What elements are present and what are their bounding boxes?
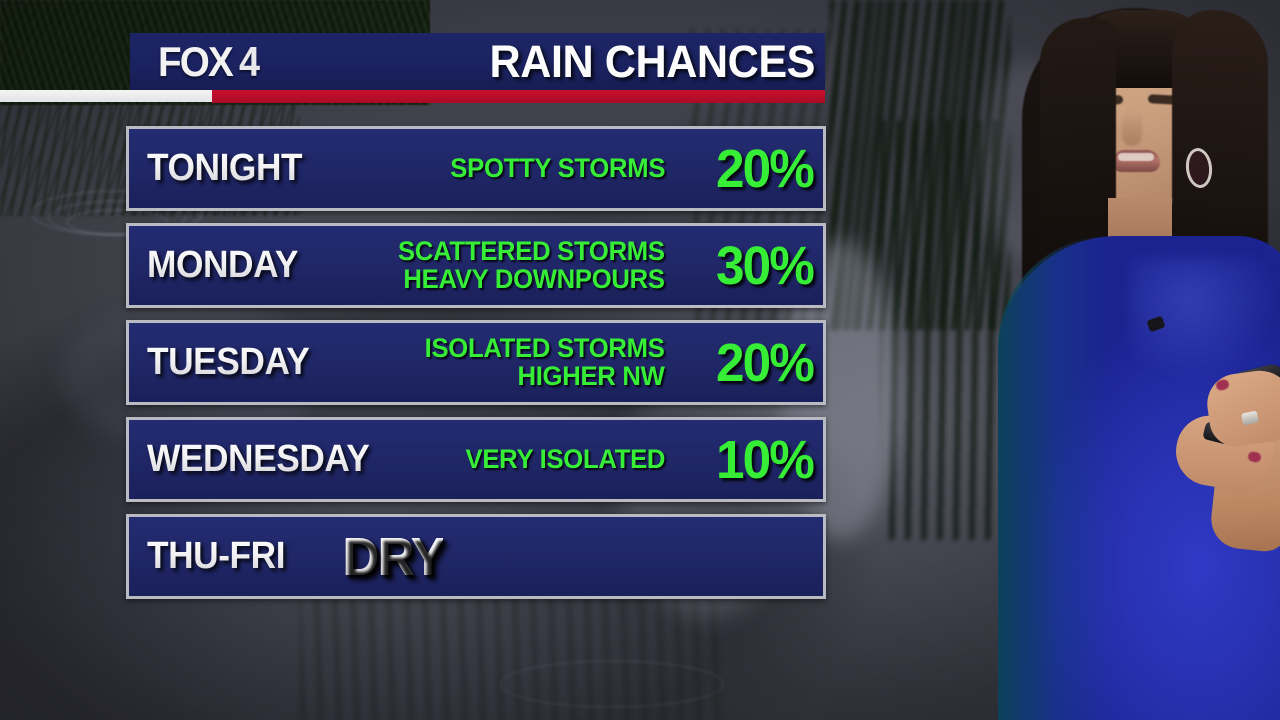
fox4-logo: FOX 4 <box>158 38 261 86</box>
logo-channel-number: 4 <box>239 38 258 86</box>
nose <box>1122 110 1142 146</box>
forecast-row: WEDNESDAY VERY ISOLATED 10% <box>126 417 826 502</box>
day-label: TONIGHT <box>147 147 302 190</box>
day-label: MONDAY <box>147 244 298 287</box>
forecast-row: TUESDAY ISOLATED STORMSHIGHER NW 20% <box>126 320 826 405</box>
condition-text: SCATTERED STORMSHEAVY DOWNPOURS <box>398 238 665 293</box>
page-title: RAIN CHANCES <box>490 36 815 88</box>
forecast-row: TONIGHT SPOTTY STORMS 20% <box>126 126 826 211</box>
broadcast-screen: FOX 4 RAIN CHANCES TONIGHT SPOTTY STORMS… <box>0 0 1280 720</box>
day-label: WEDNESDAY <box>147 438 369 481</box>
accent-stripe-white <box>0 90 212 102</box>
forecast-table: TONIGHT SPOTTY STORMS 20% MONDAY SCATTER… <box>126 126 826 599</box>
rain-chance-value: 20% <box>686 332 813 394</box>
condition-text: ISOLATED STORMSHIGHER NW <box>425 335 665 390</box>
rain-chance-value: DRY <box>316 526 443 588</box>
rain-chance-value: 20% <box>686 138 813 200</box>
meteorologist <box>980 0 1280 720</box>
forecast-row: THU-FRI DRY <box>126 514 826 599</box>
condition-text: VERY ISOLATED <box>465 446 665 474</box>
logo-fox-text: FOX <box>158 38 232 86</box>
rain-chance-value: 30% <box>686 235 813 297</box>
condition-text: SPOTTY STORMS <box>450 155 665 183</box>
rain-chance-value: 10% <box>686 429 813 491</box>
forecast-row: MONDAY SCATTERED STORMSHEAVY DOWNPOURS 3… <box>126 223 826 308</box>
accent-stripe-red <box>212 90 825 103</box>
teeth <box>1118 153 1154 161</box>
graphic-header-bar: FOX 4 RAIN CHANCES <box>130 33 825 90</box>
dress-shadow <box>998 236 1110 720</box>
day-label: TUESDAY <box>147 341 309 384</box>
day-label: THU-FRI <box>147 535 285 578</box>
